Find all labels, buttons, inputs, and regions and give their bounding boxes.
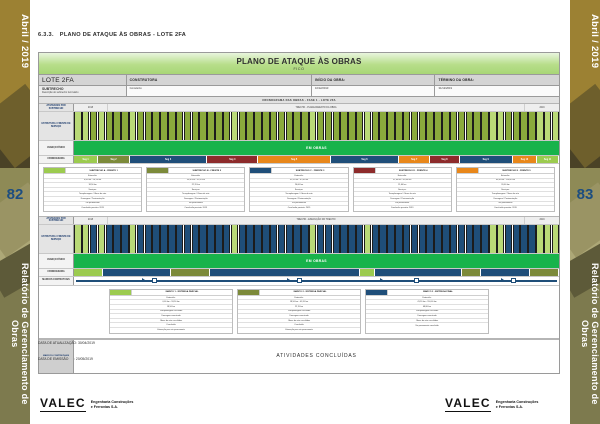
sidebar-report-label-left: Relatório de Gerenciamento de Obras — [0, 248, 30, 420]
gantt-tick — [442, 225, 449, 253]
valec-logo-mark-right: VALEC — [445, 397, 491, 412]
gantt-tick — [356, 112, 363, 140]
gantt-tick — [74, 112, 81, 140]
gantt-tick — [552, 225, 559, 253]
gantt-segment: Seg 6 — [331, 156, 399, 163]
gantt-tick — [223, 225, 230, 253]
valec-logo-mark-left: VALEC — [40, 397, 86, 412]
section-heading: 6.3.3.PLANO DE ATAQUE ÀS OBRAS - LOTE 2F… — [38, 32, 186, 38]
scale-center-1: TRECHO - PLANEJAMENTO DA OBRA — [108, 104, 525, 111]
legend-card-title: SUBTRECHO D - FRENTE 4 — [376, 168, 451, 173]
gantt-tick — [215, 112, 222, 140]
gantt-tick — [199, 225, 206, 253]
gantt-tick — [90, 225, 97, 253]
gantt-tick — [286, 225, 293, 253]
gantt-tick — [505, 225, 512, 253]
gantt-tick — [192, 225, 199, 253]
gantt-banner-1: CRONOGRAMA DAS OBRAS - FASE 1 - LOTE 2FA — [39, 97, 559, 104]
legend-card-line: Conclusão prevista: 2019 — [147, 206, 244, 211]
gantt-tick — [231, 225, 238, 253]
gantt-row-label-2d: CRONOGRAMA — [39, 269, 74, 276]
gantt-segment — [171, 269, 210, 276]
gantt-row-label-2b: ESTRUTURA / FRENTE DE SERVIÇO — [39, 225, 74, 253]
legend-card-line: Conclusão prevista: 2019 — [250, 206, 347, 211]
scale-right-2: 2019 — [525, 217, 559, 224]
gantt-tick — [106, 112, 113, 140]
gantt-tick — [325, 225, 332, 253]
gantt-tick — [333, 225, 340, 253]
gantt-tick — [121, 112, 128, 140]
gantt-tick — [356, 225, 363, 253]
date-emissao: DATA DE EMISSÃO : 20/05/2019 — [38, 357, 95, 362]
gantt-tick — [411, 225, 418, 253]
gantt-tick — [246, 225, 253, 253]
gantt-tick — [489, 225, 496, 253]
scale-left-2: 2018 — [74, 217, 108, 224]
gantt-tick — [278, 112, 285, 140]
termino-obra-value: 31/12/2019 — [435, 86, 559, 96]
gantt-tick — [293, 225, 300, 253]
gantt-tick — [184, 112, 191, 140]
gantt-row-label-2c: AVANÇO FÍSICO — [39, 254, 74, 268]
gantt-tick — [168, 225, 175, 253]
gantt-segment: Seg 10 — [513, 156, 537, 163]
legend-card-title: MARCO 1 - ENTREGA PARCIAL — [132, 290, 232, 295]
gantt-tick — [176, 225, 183, 253]
gantt-tick — [98, 225, 105, 253]
gantt-tick — [121, 225, 128, 253]
milestone-arrow — [287, 278, 290, 282]
gantt-tick — [207, 225, 214, 253]
gantt-segment — [103, 269, 171, 276]
legend-card-line: Conclusão prevista: 2019 — [457, 206, 554, 211]
gantt-tick — [168, 112, 175, 140]
gantt-segment: Seg 9 — [460, 156, 513, 163]
gantt-tick — [113, 225, 120, 253]
gantt-segments-1: Seg 1Seg 2Seg 3Seg 4Seg 5Seg 6Seg 7Seg 8… — [74, 156, 559, 163]
plan-header-row: LOTE 2FA CONSTRUTORA INÍCIO DA OBRA: TÉR… — [39, 75, 559, 86]
legend-color-swatch — [250, 168, 272, 173]
gantt-tick — [348, 225, 355, 253]
header-termino-obra: TÉRMINO DA OBRA: — [435, 75, 559, 85]
legend-card-line: Liberação para via permanente — [110, 328, 232, 333]
gantt-tick — [137, 225, 144, 253]
gantt-tick — [403, 225, 410, 253]
progress-bar-2: EM OBRAS — [74, 254, 559, 268]
gantt-tick — [458, 225, 465, 253]
gantt-tick — [262, 225, 269, 253]
gantt-tick — [160, 112, 167, 140]
footer-logo-right: VALEC Engenharia Construções e Ferrovias… — [445, 397, 538, 412]
gantt-tick — [90, 112, 97, 140]
gantt-tick — [426, 112, 433, 140]
page-number-left: 82 — [0, 186, 30, 203]
gantt-tick — [387, 225, 394, 253]
gantt-tick — [372, 225, 379, 253]
gantt-tick — [497, 225, 504, 253]
legend-color-swatch — [110, 290, 132, 295]
gantt-tick — [82, 112, 89, 140]
gantt-tick — [113, 112, 120, 140]
gantt-segments-2 — [74, 269, 559, 276]
gantt-tick — [372, 112, 379, 140]
gantt-segment: Seg 5 — [258, 156, 331, 163]
date-atualizacao: DATA DE ATUALIZAÇÃO: 30/04/2019 — [38, 341, 95, 346]
legend-card: SUBTRECHO A - FRENTE 1Extensão:0,00 km -… — [43, 167, 142, 212]
gantt-tick — [442, 112, 449, 140]
gantt-segment: Seg 7 — [399, 156, 431, 163]
legend-strip-1: SUBTRECHO A - FRENTE 1Extensão:0,00 km -… — [39, 164, 559, 216]
gantt-segment — [74, 269, 103, 276]
gantt-tick — [223, 112, 230, 140]
milestone-arrow — [501, 278, 504, 282]
gantt-tick — [379, 112, 386, 140]
header-construtora: CONSTRUTORA — [127, 75, 312, 85]
legend-card-line: Via permanente concluída — [366, 323, 488, 328]
gantt-tick — [239, 112, 246, 140]
gantt-tick-row-2: ESTRUTURA / FRENTE DE SERVIÇO — [39, 225, 559, 254]
valec-tagline-right: Engenharia Construções e Ferrovias S.A. — [496, 400, 539, 410]
legend-card: SUBTRECHO C - FRENTE 3Extensão:41,20 km … — [249, 167, 348, 212]
gantt-tick-bars-2 — [74, 225, 559, 253]
gantt-group-2: ATIVIDADES POR SUBTRECHO 2018 TRECHO - E… — [39, 217, 559, 339]
gantt-tick — [286, 112, 293, 140]
legend-card-title: MARCO 2 - ENTREGA PARCIAL — [260, 290, 360, 295]
section-number: 6.3.3. — [38, 32, 54, 38]
gantt-tick — [505, 112, 512, 140]
gantt-tick — [278, 225, 285, 253]
gantt-tick-row-1: ESTRUTURA / FRENTE DE SERVIÇO — [39, 112, 559, 141]
gantt-tick — [513, 225, 520, 253]
gantt-tick — [254, 225, 261, 253]
section-title-text: PLANO DE ATAQUE ÀS OBRAS - LOTE 2FA — [60, 32, 186, 38]
gantt-tick — [536, 112, 543, 140]
gantt-row-label-1c: AVANÇO FÍSICO — [39, 141, 74, 155]
gantt-segment-row-1: CRONOGRAMA Seg 1Seg 2Seg 3Seg 4Seg 5Seg … — [39, 156, 559, 164]
gantt-tick — [152, 112, 159, 140]
plan-table: PLANO DE ATAQUE ÀS OBRAS FICO LOTE 2FA C… — [38, 52, 560, 374]
gantt-row-label-1d: CRONOGRAMA — [39, 156, 74, 163]
gantt-tick — [176, 112, 183, 140]
gantt-tick — [340, 225, 347, 253]
gantt-segment: Seg 2 — [98, 156, 130, 163]
scale-center-2: TRECHO - EXECUÇÃO DO TRECHO — [108, 217, 525, 224]
gantt-tick — [74, 225, 81, 253]
gantt-segment: Seg 8 — [430, 156, 459, 163]
legend-card: MARCO 3 - ENTREGA FINALExtensão:41,20 km… — [365, 289, 489, 334]
gantt-tick — [489, 112, 496, 140]
gantt-tick — [434, 225, 441, 253]
gantt-tick — [215, 225, 222, 253]
gantt-tick — [528, 112, 535, 140]
gantt-tick — [192, 112, 199, 140]
gantt-segment: Seg 4 — [207, 156, 258, 163]
gantt-tick — [270, 225, 277, 253]
gantt-tick — [254, 112, 261, 140]
gantt-tick — [403, 112, 410, 140]
legend-card: MARCO 1 - ENTREGA PARCIALExtensão:0,00 k… — [109, 289, 233, 334]
milestone-node — [152, 278, 157, 283]
header-inicio-obra: INÍCIO DA OBRA: — [312, 75, 436, 85]
gantt-segment — [481, 269, 530, 276]
gantt-tick — [145, 225, 152, 253]
page-content: 6.3.3.PLANO DE ATAQUE ÀS OBRAS - LOTE 2F… — [30, 0, 570, 424]
gantt-milestone-row-2: MARCOS CONTRATUAIS — [39, 277, 559, 286]
concluded-text: ATIVIDADES CONCLUÍDAS — [74, 340, 559, 373]
sidebar-left: Abril / 2019 82 Relatório de Gerenciamen… — [0, 0, 30, 424]
gantt-segment: Seg 11 — [537, 156, 559, 163]
gantt-tick — [239, 225, 246, 253]
gantt-tick — [270, 112, 277, 140]
legend-color-swatch — [44, 168, 66, 173]
gantt-tick — [364, 112, 371, 140]
gantt-row-label-2e: MARCOS CONTRATUAIS — [39, 277, 74, 285]
valec-rule-left — [40, 411, 86, 412]
legend-card-title: SUBTRECHO E - FRENTE 5 — [479, 168, 554, 173]
subtrecho-value: Descrição do subtrecho ferroviário — [42, 91, 123, 94]
milestone-track — [74, 277, 559, 285]
sidebar-right: Abril / 2019 83 Relatório de Gerenciamen… — [570, 0, 600, 424]
gantt-tick — [466, 112, 473, 140]
plan-subheader-row: SUBTRECHO Descrição do subtrecho ferrovi… — [39, 86, 559, 97]
gantt-tick — [152, 225, 159, 253]
gantt-segment — [530, 269, 559, 276]
gantt-tick — [246, 112, 253, 140]
milestone-arrow — [142, 278, 145, 282]
gantt-tick — [419, 112, 426, 140]
gantt-tick — [137, 112, 144, 140]
legend-strip-2: MARCO 1 - ENTREGA PARCIALExtensão:0,00 k… — [39, 286, 559, 338]
milestone-arrow — [380, 278, 383, 282]
gantt-row-label-2a: ATIVIDADES POR SUBTRECHO — [39, 217, 74, 224]
legend-card-title: SUBTRECHO A - FRENTE 1 — [66, 168, 141, 173]
gantt-segment: Seg 3 — [130, 156, 208, 163]
gantt-tick — [458, 112, 465, 140]
gantt-tick — [513, 112, 520, 140]
legend-card: SUBTRECHO D - FRENTE 4Extensão:67,80 km … — [353, 167, 452, 212]
gantt-tick — [301, 225, 308, 253]
gantt-tick — [364, 225, 371, 253]
legend-color-swatch — [238, 290, 260, 295]
gantt-scale-row-2: ATIVIDADES POR SUBTRECHO 2018 TRECHO - E… — [39, 217, 559, 225]
gantt-tick — [207, 112, 214, 140]
gantt-tick — [544, 225, 551, 253]
gantt-progress-row-2: AVANÇO FÍSICO EM OBRAS — [39, 254, 559, 269]
page-number-right: 83 — [570, 186, 600, 203]
gantt-tick — [340, 112, 347, 140]
gantt-tick — [473, 112, 480, 140]
gantt-tick — [481, 225, 488, 253]
gantt-tick — [98, 112, 105, 140]
header-lote: LOTE 2FA — [39, 75, 127, 85]
legend-card-title: SUBTRECHO C - FRENTE 3 — [272, 168, 347, 173]
gantt-segment — [360, 269, 375, 276]
gantt-tick — [544, 112, 551, 140]
gantt-segment: Seg 1 — [74, 156, 98, 163]
gantt-row-label-1b: ESTRUTURA / FRENTE DE SERVIÇO — [39, 112, 74, 140]
gantt-tick — [520, 112, 527, 140]
scale-right-1: 2019 — [525, 104, 559, 111]
gantt-tick — [466, 225, 473, 253]
legend-color-swatch — [366, 290, 388, 295]
gantt-tick — [301, 112, 308, 140]
plan-title-banner: PLANO DE ATAQUE ÀS OBRAS FICO — [39, 53, 559, 75]
scale-left-1: 2018 — [74, 104, 108, 111]
sidebar-report-label-right: Relatório de Gerenciamento de Obras — [570, 248, 600, 420]
valec-tagline-left: Engenharia Construções e Ferrovias S.A. — [91, 400, 134, 410]
construtora-value: Consórcio — [127, 86, 312, 96]
legend-color-swatch — [147, 168, 169, 173]
milestone-node — [297, 278, 302, 283]
gantt-tick — [317, 112, 324, 140]
sidebar-month-label-left: Abril / 2019 — [0, 6, 30, 76]
sidebar-month-label-right: Abril / 2019 — [570, 6, 600, 76]
legend-card-line: Liberação para via permanente — [238, 328, 360, 333]
gantt-tick — [387, 112, 394, 140]
subtrecho-cell: SUBTRECHO Descrição do subtrecho ferrovi… — [39, 86, 127, 96]
gantt-tick — [333, 112, 340, 140]
milestone-node — [511, 278, 516, 283]
legend-card-line: Conclusão prevista: 2019 — [354, 206, 451, 211]
legend-color-swatch — [457, 168, 479, 173]
valec-brand-left: VALEC — [40, 397, 86, 409]
legend-card-line: Conclusão prevista: 2019 — [44, 206, 141, 211]
legend-card: MARCO 2 - ENTREGA PARCIALExtensão:18,50 … — [237, 289, 361, 334]
gantt-tick — [426, 225, 433, 253]
plan-subtitle-text: FICO — [294, 67, 305, 71]
gantt-tick — [434, 112, 441, 140]
gantt-segment-row-2: CRONOGRAMA — [39, 269, 559, 277]
legend-card: SUBTRECHO B - FRENTE 2Extensão:18,50 km … — [146, 167, 245, 212]
timeline-scale-2: 2018 TRECHO - EXECUÇÃO DO TRECHO 2019 — [74, 217, 559, 224]
gantt-tick — [129, 112, 136, 140]
legend-card-title: MARCO 3 - ENTREGA FINAL — [388, 290, 488, 295]
gantt-segment — [210, 269, 360, 276]
gantt-tick — [497, 112, 504, 140]
gantt-tick — [262, 112, 269, 140]
gantt-tick — [520, 225, 527, 253]
milestone-node — [414, 278, 419, 283]
gantt-tick — [395, 112, 402, 140]
dates-block: DATA DE ATUALIZAÇÃO: 30/04/2019 DATA DE … — [38, 330, 95, 374]
gantt-tick — [473, 225, 480, 253]
gantt-tick — [293, 112, 300, 140]
gantt-tick — [199, 112, 206, 140]
valec-brand-right: VALEC — [445, 397, 491, 409]
gantt-tick — [552, 112, 559, 140]
gantt-tick — [536, 225, 543, 253]
gantt-tick — [528, 225, 535, 253]
gantt-tick — [379, 225, 386, 253]
gantt-segment — [375, 269, 462, 276]
inicio-obra-value: 10/12/2013 — [312, 86, 436, 96]
gantt-tick — [231, 112, 238, 140]
plan-title-text: PLANO DE ATAQUE ÀS OBRAS — [236, 57, 361, 66]
gantt-tick — [184, 225, 191, 253]
gantt-tick — [106, 225, 113, 253]
gantt-tick — [82, 225, 89, 253]
legend-card: SUBTRECHO E - FRENTE 5Extensão:89,40 km … — [456, 167, 555, 212]
gantt-tick — [145, 112, 152, 140]
gantt-tick — [450, 112, 457, 140]
gantt-tick — [129, 225, 136, 253]
gantt-tick — [309, 112, 316, 140]
footer-logo-left: VALEC Engenharia Construções e Ferrovias… — [40, 397, 133, 412]
gantt-segment — [462, 269, 481, 276]
gantt-tick — [450, 225, 457, 253]
gantt-row-label-1a: ATIVIDADES POR SUBTRECHO — [39, 104, 74, 111]
gantt-tick — [419, 225, 426, 253]
valec-rule-right — [445, 411, 491, 412]
gantt-tick — [309, 225, 316, 253]
gantt-tick-bars-1 — [74, 112, 559, 140]
progress-bar-1: EM OBRAS — [74, 141, 559, 155]
gantt-group-1: CRONOGRAMA DAS OBRAS - FASE 1 - LOTE 2FA… — [39, 97, 559, 217]
legend-card-title: SUBTRECHO B - FRENTE 2 — [169, 168, 244, 173]
milestone-line — [76, 280, 557, 282]
gantt-tick — [160, 225, 167, 253]
gantt-tick — [348, 112, 355, 140]
concluded-row: MARCOS CONTRATUAIS ATIVIDADES CONCLUÍDAS — [39, 339, 559, 373]
gantt-progress-row-1: AVANÇO FÍSICO EM OBRAS — [39, 141, 559, 156]
legend-color-swatch — [354, 168, 376, 173]
gantt-tick — [317, 225, 324, 253]
gantt-tick — [481, 112, 488, 140]
gantt-tick — [395, 225, 402, 253]
timeline-scale-1: 2018 TRECHO - PLANEJAMENTO DA OBRA 2019 — [74, 104, 559, 111]
gantt-tick — [325, 112, 332, 140]
gantt-tick — [411, 112, 418, 140]
gantt-scale-row-1: ATIVIDADES POR SUBTRECHO 2018 TRECHO - P… — [39, 104, 559, 112]
